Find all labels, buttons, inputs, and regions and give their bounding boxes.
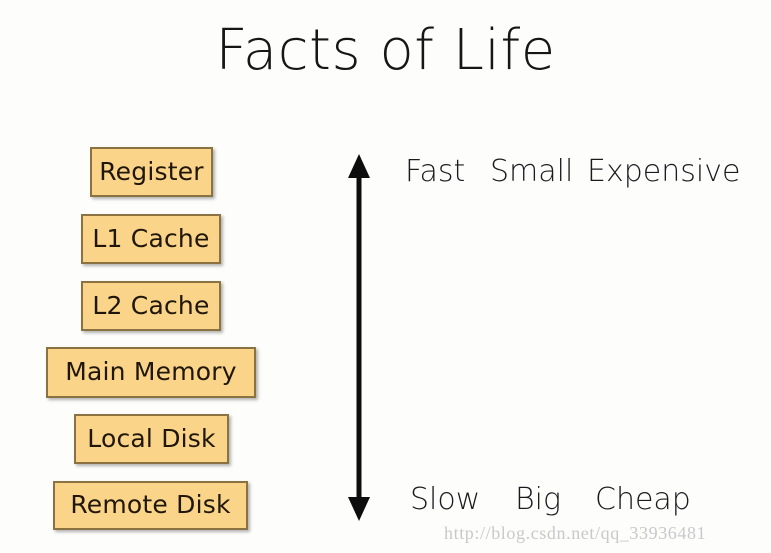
memory-level-label: Register [99,159,204,186]
memory-hierarchy-group: Register L1 Cache L2 Cache Main Memory L… [0,0,300,553]
attribute-label-big: Big [515,480,561,520]
memory-level-label: Main Memory [65,359,237,386]
memory-level-label: L1 Cache [92,226,209,253]
attribute-label-expensive: Expensive [587,152,740,192]
memory-level-label: Local Disk [87,426,215,453]
attributes-top-row: Fast Small Expensive [390,152,771,192]
memory-level-box: Remote Disk [53,481,248,530]
attribute-label-small: Small [490,152,573,192]
memory-level-box: Register [90,147,213,197]
watermark-text: http://blog.csdn.net/qq_33936481 [444,522,706,544]
slide-canvas: Facts of Life Register L1 Cache L2 Cache… [0,0,771,553]
attribute-label-slow: Slow [410,480,480,520]
attribute-label-cheap: Cheap [595,480,691,520]
memory-level-box: Main Memory [46,347,256,398]
attributes-bottom-row: Slow Big Cheap [390,480,771,520]
double-headed-arrow-icon [338,150,380,525]
memory-level-box: L2 Cache [81,281,221,331]
memory-level-box: L1 Cache [81,214,221,264]
memory-level-box: Local Disk [74,414,229,464]
memory-level-label: L2 Cache [92,293,209,320]
attribute-label-fast: Fast [405,152,465,192]
memory-level-label: Remote Disk [70,492,230,519]
